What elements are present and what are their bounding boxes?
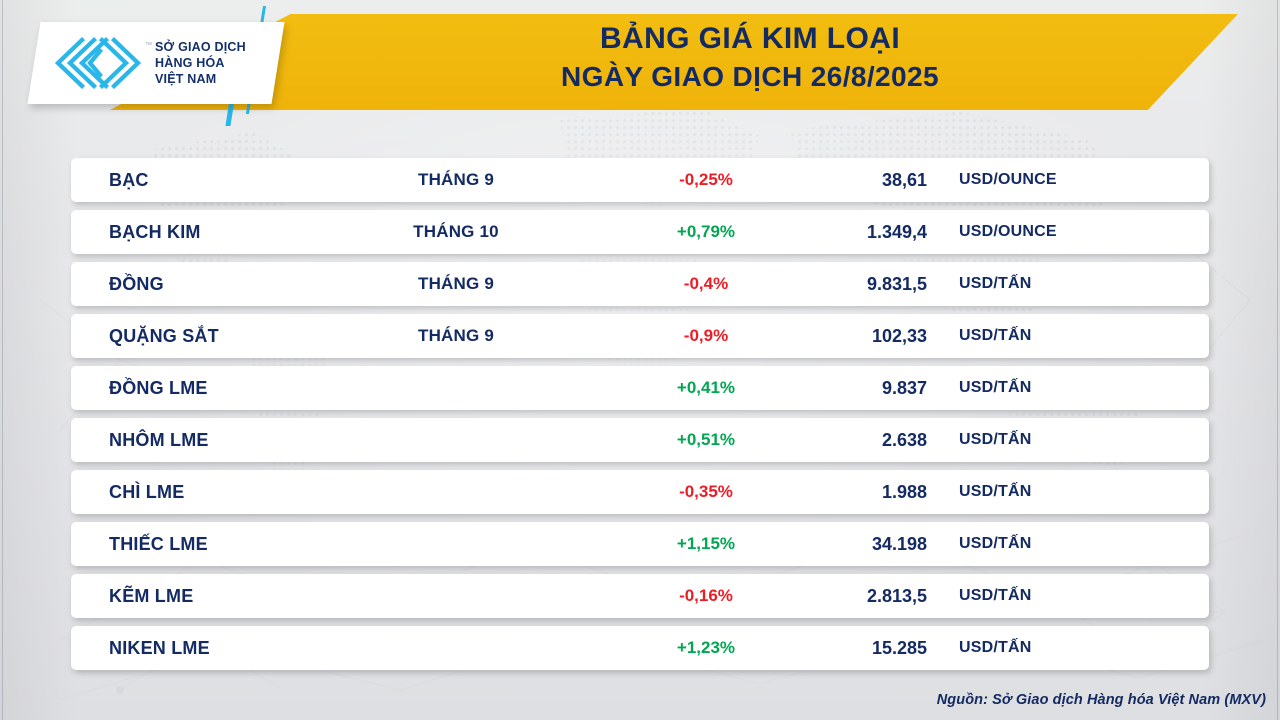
table-row[interactable]: THIẾC LME+1,15%34.198USD/TẤN	[71, 522, 1209, 566]
price-unit: USD/TẤN	[959, 639, 1032, 657]
price-unit: USD/TẤN	[959, 327, 1032, 345]
change-percent: +0,51%	[626, 430, 786, 450]
price-value: 1.349,4	[771, 222, 927, 243]
price-value: 2.813,5	[771, 586, 927, 607]
price-value: 2.638	[771, 430, 927, 451]
price-unit: USD/TẤN	[959, 379, 1032, 397]
change-percent: -0,35%	[626, 482, 786, 502]
price-unit: USD/TẤN	[959, 587, 1032, 605]
price-unit: USD/TẤN	[959, 431, 1032, 449]
commodity-name: QUẶNG SẮT	[109, 326, 219, 347]
change-percent: -0,4%	[626, 274, 786, 294]
change-percent: +0,41%	[626, 378, 786, 398]
change-percent: -0,16%	[626, 586, 786, 606]
price-value: 34.198	[771, 534, 927, 555]
commodity-name: BẠCH KIM	[109, 222, 201, 243]
price-value: 102,33	[771, 326, 927, 347]
table-row[interactable]: ĐỒNG LME+0,41%9.837USD/TẤN	[71, 366, 1209, 410]
change-percent: +1,15%	[626, 534, 786, 554]
price-unit: USD/TẤN	[959, 275, 1032, 293]
commodity-name: CHÌ LME	[109, 482, 184, 503]
table-row[interactable]: NHÔM LME+0,51%2.638USD/TẤN	[71, 418, 1209, 462]
logo-wordmark-line-1: SỞ GIAO DỊCH	[155, 39, 246, 55]
price-value: 9.837	[771, 378, 927, 399]
price-unit: USD/TẤN	[959, 483, 1032, 501]
commodity-name: ĐỒNG LME	[109, 378, 208, 399]
contract-month: THÁNG 9	[361, 326, 551, 346]
commodity-name: NHÔM LME	[109, 430, 209, 451]
table-row[interactable]: ĐỒNGTHÁNG 9-0,4%9.831,5USD/TẤN	[71, 262, 1209, 306]
change-percent: -0,9%	[626, 326, 786, 346]
table-row[interactable]: NIKEN LME+1,23%15.285USD/TẤN	[71, 626, 1209, 670]
price-value: 15.285	[771, 638, 927, 659]
table-row[interactable]: CHÌ LME-0,35%1.988USD/TẤN	[71, 470, 1209, 514]
mxv-chevron-logo-icon	[52, 37, 144, 89]
contract-month: THÁNG 9	[361, 274, 551, 294]
contract-month: THÁNG 10	[361, 222, 551, 242]
commodity-name: BẠC	[109, 170, 149, 191]
change-percent: +0,79%	[626, 222, 786, 242]
price-unit: USD/OUNCE	[959, 223, 1057, 241]
price-value: 38,61	[771, 170, 927, 191]
price-board-screen: ™ SỞ GIAO DỊCH HÀNG HÓA VIỆT NAM BẢNG GI…	[0, 0, 1280, 720]
table-row[interactable]: QUẶNG SẮTTHÁNG 9-0,9%102,33USD/TẤN	[71, 314, 1209, 358]
commodity-name: KẼM LME	[109, 586, 193, 607]
table-row[interactable]: KẼM LME-0,16%2.813,5USD/TẤN	[71, 574, 1209, 618]
trademark-symbol: ™	[145, 42, 152, 49]
logo-wordmark-line-3: VIỆT NAM	[155, 71, 246, 87]
commodity-name: THIẾC LME	[109, 534, 208, 555]
commodity-name: ĐỒNG	[109, 274, 164, 295]
table-row[interactable]: BẠCTHÁNG 9-0,25%38,61USD/OUNCE	[71, 158, 1209, 202]
logo-wordmark-line-2: HÀNG HÓA	[155, 55, 246, 71]
page-title-line-2: NGÀY GIAO DỊCH 26/8/2025	[340, 58, 1160, 96]
price-value: 1.988	[771, 482, 927, 503]
price-unit: USD/OUNCE	[959, 171, 1057, 189]
logo-card: ™ SỞ GIAO DỊCH HÀNG HÓA VIỆT NAM	[28, 22, 285, 104]
price-table: BẠCTHÁNG 9-0,25%38,61USD/OUNCEBẠCH KIMTH…	[0, 158, 1280, 678]
source-note: Nguồn: Sở Giao dịch Hàng hóa Việt Nam (M…	[937, 692, 1266, 708]
logo-wordmark: SỞ GIAO DỊCH HÀNG HÓA VIỆT NAM	[155, 39, 246, 87]
change-percent: -0,25%	[626, 170, 786, 190]
price-value: 9.831,5	[771, 274, 927, 295]
header: ™ SỞ GIAO DỊCH HÀNG HÓA VIỆT NAM BẢNG GI…	[0, 0, 1280, 128]
commodity-name: NIKEN LME	[109, 638, 210, 659]
change-percent: +1,23%	[626, 638, 786, 658]
page-title-line-1: BẢNG GIÁ KIM LOẠI	[340, 20, 1160, 58]
page-title: BẢNG GIÁ KIM LOẠI NGÀY GIAO DỊCH 26/8/20…	[340, 20, 1160, 96]
contract-month: THÁNG 9	[361, 170, 551, 190]
price-unit: USD/TẤN	[959, 535, 1032, 553]
table-row[interactable]: BẠCH KIMTHÁNG 10+0,79%1.349,4USD/OUNCE	[71, 210, 1209, 254]
